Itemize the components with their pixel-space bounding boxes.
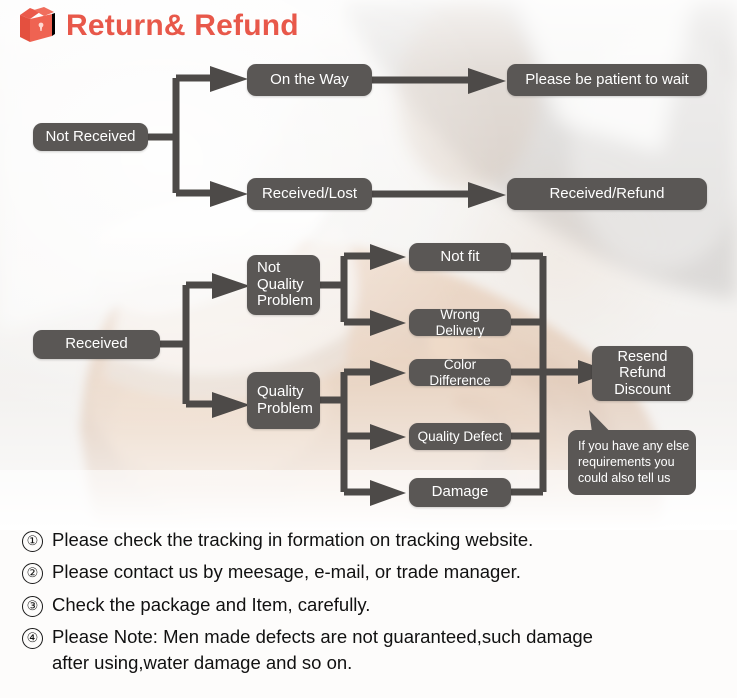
node-label: Color Difference	[415, 357, 505, 387]
note-bubble-line1: If you have any else	[578, 438, 687, 454]
node-received-lost[interactable]: Received/Lost	[247, 178, 372, 210]
note-line1: Check the package and Item, carefully.	[52, 594, 370, 615]
note-line1: Please check the tracking in formation o…	[52, 529, 533, 550]
node-not-quality-problem[interactable]: Not Quality Problem	[247, 255, 320, 315]
node-label: Not fit	[440, 249, 479, 266]
node-not-fit[interactable]: Not fit	[409, 243, 511, 271]
node-label-line1: Resend	[618, 349, 668, 365]
notes-list: ① Please check the tracking in formation…	[22, 527, 722, 682]
node-label: Received/Refund	[549, 186, 664, 203]
note-line2: after using,water damage and so on.	[52, 650, 593, 676]
node-quality-defect[interactable]: Quality Defect	[409, 423, 511, 450]
node-label-line2: Quality	[257, 277, 304, 294]
node-resend-refund-discount[interactable]: Resend Refund Discount	[592, 346, 693, 401]
note-bubble-line3: could also tell us	[578, 470, 687, 486]
note-number: ③	[22, 596, 43, 617]
node-label: Received/Lost	[262, 186, 357, 203]
node-on-the-way[interactable]: On the Way	[247, 64, 372, 96]
node-label-line3: Discount	[614, 382, 670, 398]
note-line1: Please contact us by meesage, e-mail, or…	[52, 561, 521, 582]
node-label: Damage	[432, 484, 489, 501]
node-please-be-patient-to-wait[interactable]: Please be patient to wait	[507, 64, 707, 96]
node-label: Received	[65, 336, 128, 353]
note-bubble[interactable]: If you have any else requirements you co…	[568, 430, 696, 495]
node-received[interactable]: Received	[33, 330, 160, 359]
node-label: Please be patient to wait	[525, 72, 688, 89]
node-received-refund[interactable]: Received/Refund	[507, 178, 707, 210]
note-bubble-line2: requirements you	[578, 454, 687, 470]
node-label: On the Way	[270, 72, 349, 89]
list-item: ① Please check the tracking in formation…	[22, 527, 722, 553]
node-wrong-delivery[interactable]: Wrong Delivery	[409, 309, 511, 336]
note-number: ④	[22, 628, 43, 649]
list-item: ④ Please Note: Men made defects are not …	[22, 624, 722, 677]
node-damage[interactable]: Damage	[409, 478, 511, 507]
note-line1: Please Note: Men made defects are not gu…	[52, 626, 593, 647]
page-header: Return& Refund	[18, 6, 299, 46]
note-number: ①	[22, 531, 43, 552]
node-color-difference[interactable]: Color Difference	[409, 359, 511, 386]
note-text: Please contact us by meesage, e-mail, or…	[52, 559, 521, 585]
node-quality-problem[interactable]: Quality Problem	[247, 372, 320, 429]
node-label-line3: Problem	[257, 293, 313, 310]
node-label-line2: Problem	[257, 401, 313, 418]
flowchart: Not Received On the Way Received/Lost Pl…	[0, 0, 737, 520]
note-text: Please check the tracking in formation o…	[52, 527, 533, 553]
note-text: Please Note: Men made defects are not gu…	[52, 624, 593, 677]
page-title: Return& Refund	[66, 11, 299, 41]
node-label: Not Received	[45, 129, 135, 146]
return-refund-infographic: Return& Refund	[0, 0, 737, 698]
node-not-received[interactable]: Not Received	[33, 123, 148, 151]
node-label: Wrong Delivery	[415, 307, 505, 337]
node-label-line1: Not	[257, 260, 280, 277]
list-item: ② Please contact us by meesage, e-mail, …	[22, 559, 722, 585]
node-label-line1: Quality	[257, 384, 304, 401]
node-label: Quality Defect	[418, 429, 503, 444]
note-text: Check the package and Item, carefully.	[52, 592, 370, 618]
note-number: ②	[22, 563, 43, 584]
package-box-icon	[18, 6, 56, 46]
node-label-line2: Refund	[619, 365, 666, 381]
list-item: ③ Check the package and Item, carefully.	[22, 592, 722, 618]
